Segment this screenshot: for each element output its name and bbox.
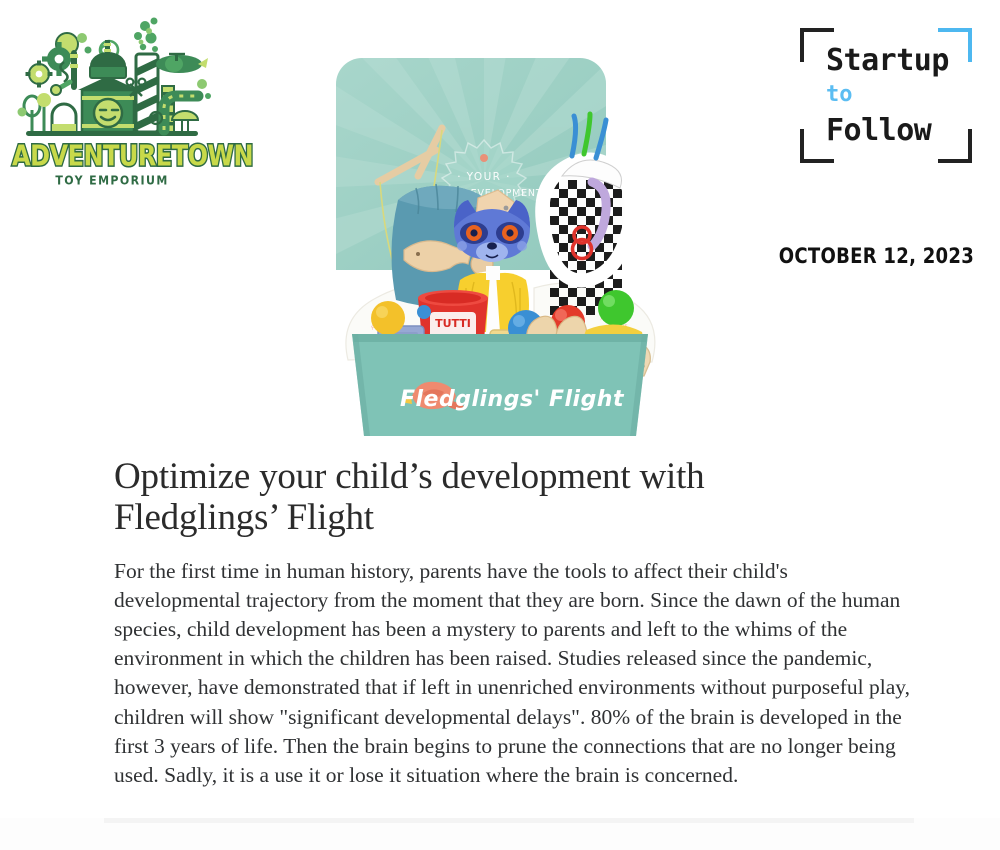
logo-wordmark: ADVENTURETOWN [12, 142, 212, 170]
badge-line-to: to [826, 84, 853, 106]
article-body: Optimize your child’s development with F… [114, 456, 914, 790]
bracket-bottom-right-icon [938, 129, 972, 163]
startup-to-follow-badge: Startup to Follow [800, 28, 972, 163]
svg-text:Fledglings' Flight: Fledglings' Flight [400, 387, 625, 412]
badge-line-follow: Follow [826, 116, 931, 146]
logo-tagline: TOY EMPORIUM [12, 173, 212, 187]
svg-text:TUTTI: TUTTI [435, 317, 471, 330]
toy-factory-town-icon [12, 12, 212, 144]
svg-text:· YOUR ·: · YOUR · [457, 171, 511, 183]
content-bottom-edge [104, 818, 914, 823]
badge-line-startup: Startup [826, 46, 949, 76]
page-title: Optimize your child’s development with F… [114, 456, 804, 539]
article-paragraph: For the first time in human history, par… [114, 557, 910, 790]
publication-date: OCTOBER 12, 2023 [779, 244, 974, 268]
site-logo[interactable]: ADVENTURETOWN TOY EMPORIUM [12, 12, 212, 192]
article-page: ADVENTURETOWN TOY EMPORIUM Startup to Fo… [0, 0, 1000, 850]
hero-product-image: · YOUR · CHILD DEVELOPMENT TOOLBOX Fledg… [300, 30, 700, 440]
